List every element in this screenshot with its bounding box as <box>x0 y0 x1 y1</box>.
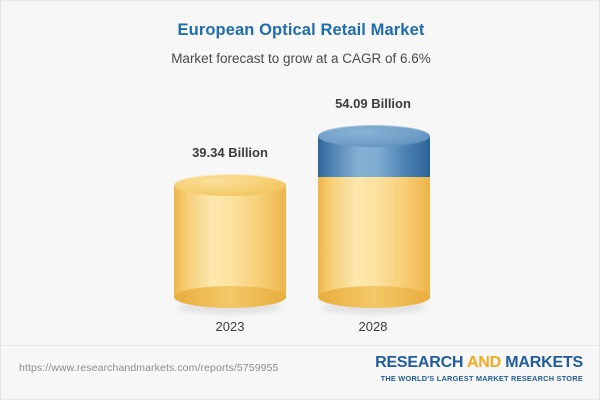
research-and-markets-logo[interactable]: RESEARCH AND MARKETS THE WORLD'S LARGEST… <box>375 354 583 383</box>
brand-tagline: THE WORLD'S LARGEST MARKET RESEARCH STOR… <box>375 374 583 383</box>
brand-word-and: AND <box>467 354 501 371</box>
brand-wordmark: RESEARCH AND MARKETS <box>375 354 583 372</box>
chart-title: European Optical Retail Market <box>1 21 600 40</box>
source-url-link[interactable]: https://www.researchandmarkets.com/repor… <box>19 362 278 374</box>
bar-cylinder-bottom-2028-base <box>318 286 430 308</box>
brand-word-research: RESEARCH <box>375 354 463 371</box>
brand-word-markets: MARKETS <box>505 354 583 371</box>
chart-card: European Optical Retail Market Market fo… <box>0 0 600 400</box>
bar-category-label-2028: 2028 <box>273 319 473 334</box>
bar-value-label-2028: 54.09 Billion <box>273 96 473 111</box>
chart-plot-area: 39.34 Billion 2023 54.09 Billion <box>1 79 600 341</box>
bar-cylinder-bottom-2023 <box>174 286 286 308</box>
chart-subtitle: Market forecast to grow at a CAGR of 6.6… <box>1 51 600 66</box>
footer: https://www.researchandmarkets.com/repor… <box>1 345 600 399</box>
bar-cylinder-2028-base[interactable] <box>318 177 430 308</box>
bar-cylinder-body-2023 <box>174 185 286 297</box>
bar-cylinder-2023[interactable] <box>174 174 286 308</box>
bar-cylinder-body-2028-base <box>318 177 430 297</box>
bar-cylinder-top-2023 <box>174 174 286 196</box>
bar-cylinder-top-2028-growth <box>318 125 430 147</box>
bar-value-label-2023: 39.34 Billion <box>130 145 330 160</box>
